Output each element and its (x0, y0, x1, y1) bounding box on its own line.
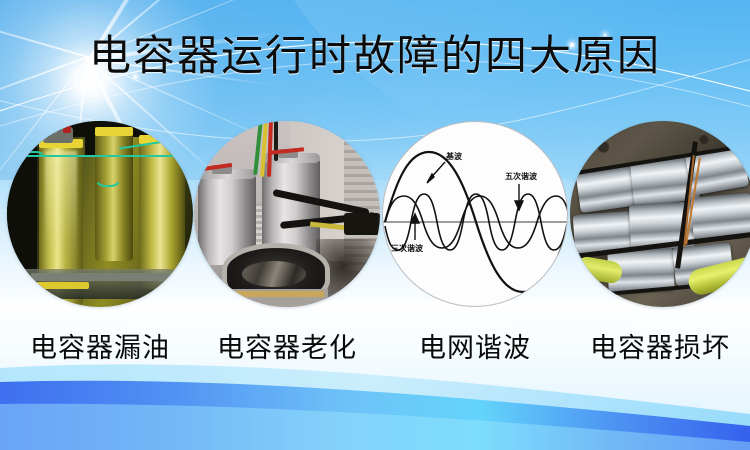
slide-canvas: 电容器运行时故障的四大原因 (0, 0, 750, 450)
label-fundamental: 基波 (446, 152, 462, 161)
caption-oil-leak: 电容器漏油 (7, 330, 193, 366)
photo-aging (194, 121, 380, 307)
annotation-arrow-fundamental (427, 162, 445, 183)
caption-harmonics: 电网谐波 (382, 330, 568, 366)
caption-damage: 电容器损坏 (570, 330, 750, 366)
page-title: 电容器运行时故障的四大原因 (0, 33, 750, 81)
label-third-harmonic: 三次谐波 (391, 244, 423, 253)
photo-circle-harmonics[interactable]: 基波 五次谐波 三次谐波 (382, 121, 568, 307)
photo-circle-aging[interactable] (194, 121, 380, 307)
photo-circle-damage[interactable] (570, 121, 750, 307)
harmonics-waveform-chart (383, 122, 568, 307)
annotation-arrow-5th (515, 184, 523, 210)
photo-oil-leak (7, 121, 193, 307)
caption-aging: 电容器老化 (194, 330, 380, 366)
photo-circle-oil-leak[interactable] (7, 121, 193, 307)
label-fifth-harmonic: 五次谐波 (505, 172, 537, 181)
photo-damage (570, 121, 750, 307)
